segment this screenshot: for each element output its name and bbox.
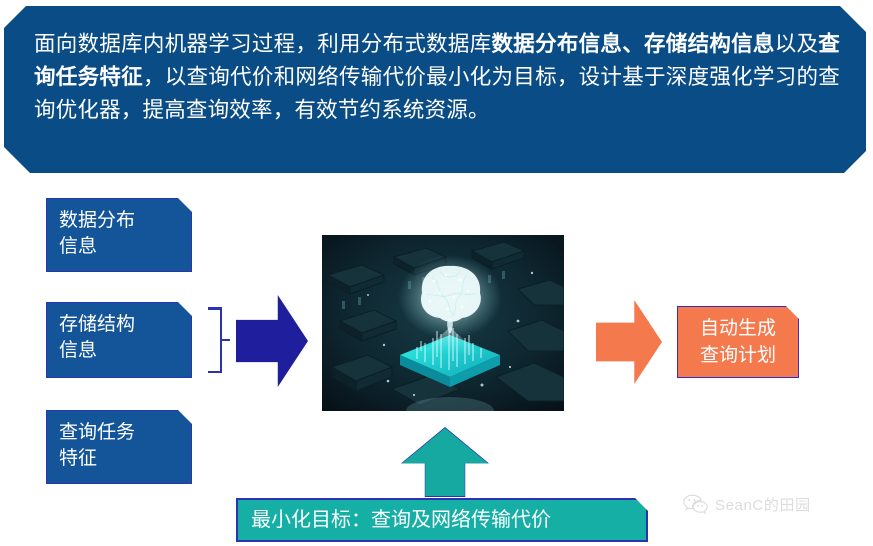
input-box-data-distribution[interactable]: 数据分布 信息 [46, 198, 192, 272]
ai-chip-illustration-graphic [322, 235, 564, 411]
objective-box[interactable]: 最小化目标：查询及网络传输代价 [236, 498, 648, 542]
arrow-up-teal-icon [402, 428, 488, 496]
banner-corner-notch-top-right [840, 6, 866, 32]
arrow-right-orange-icon [596, 300, 662, 384]
output-box-line2: 查询计划 [678, 342, 798, 369]
wechat-icon-graphic [683, 494, 708, 515]
brace-pointer-segment [221, 339, 230, 342]
output-box-query-plan[interactable]: 自动生成 查询计划 [677, 306, 799, 378]
output-box-line1: 自动生成 [678, 315, 798, 342]
arrow-right-navy-icon [236, 295, 308, 387]
brace-bottom-segment [208, 371, 222, 374]
banner-segment-1: 数据分布信息、存储结构信息 [492, 32, 775, 56]
banner-segment-0: 面向数据库内机器学习过程，利用分布式数据库 [34, 32, 492, 56]
slide-canvas: 面向数据库内机器学习过程，利用分布式数据库数据分布信息、存储结构信息以及查询任务… [0, 0, 873, 546]
banner-paragraph: 面向数据库内机器学习过程，利用分布式数据库数据分布信息、存储结构信息以及查询任务… [34, 28, 840, 127]
input-box-line2: 特征 [59, 446, 191, 472]
input-box-query-task-feature[interactable]: 查询任务 特征 [46, 410, 192, 484]
input-box-line1: 查询任务 [59, 420, 191, 446]
grouping-brace-icon [208, 307, 230, 373]
banner-segment-2: 以及 [775, 32, 819, 56]
input-box-line2: 信息 [59, 234, 191, 260]
watermark-label: SeanC的田园 [715, 494, 811, 515]
wechat-icon [683, 494, 708, 515]
input-box-storage-structure[interactable]: 存储结构 信息 [46, 302, 192, 378]
watermark: SeanC的田园 [683, 494, 811, 515]
input-box-line1: 存储结构 [59, 312, 191, 338]
summary-banner: 面向数据库内机器学习过程，利用分布式数据库数据分布信息、存储结构信息以及查询任务… [4, 6, 866, 173]
banner-segment-4: ，以查询代价和网络传输代价最小化为目标，设计基于深度强化学习的查询优化器，提高查… [34, 65, 840, 122]
input-box-line1: 数据分布 [59, 208, 191, 234]
banner-corner-notch-bottom-left [4, 147, 30, 173]
ai-chip-illustration [322, 235, 564, 411]
input-box-line2: 信息 [59, 338, 191, 364]
